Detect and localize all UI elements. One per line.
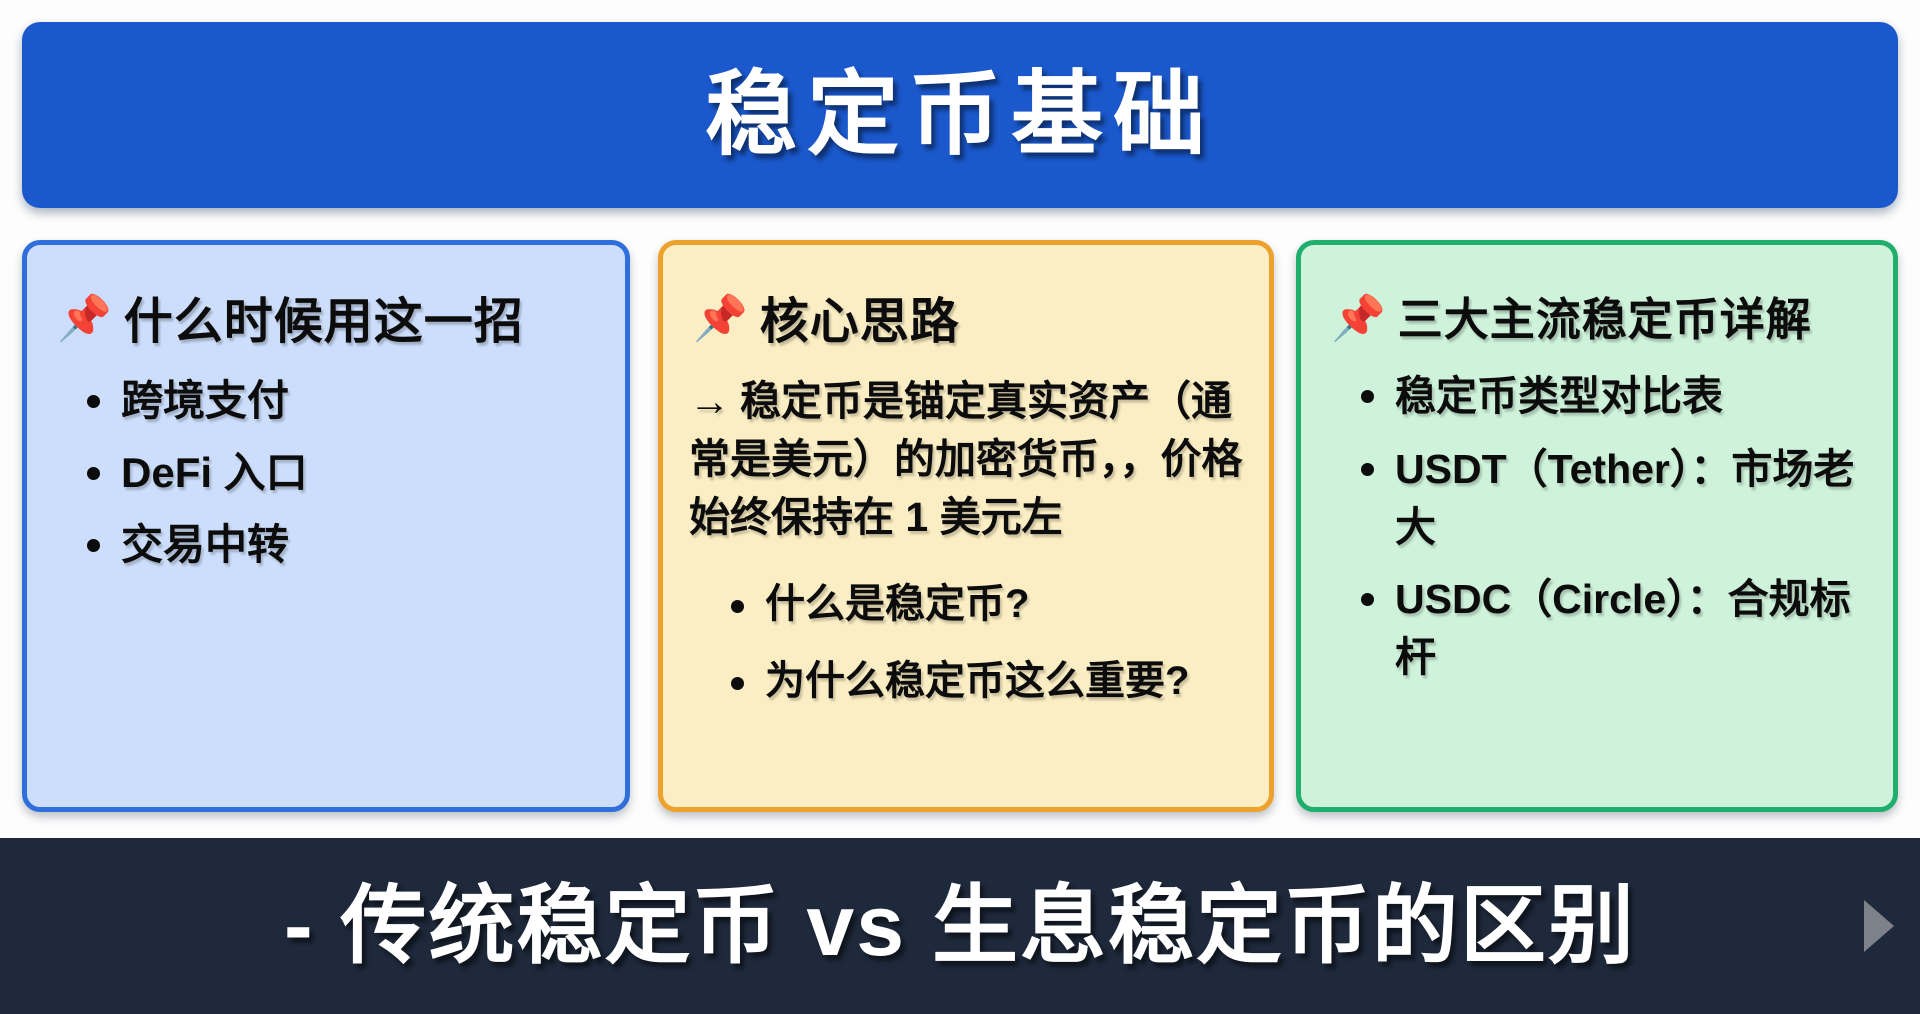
arrow-right-icon: → — [689, 378, 730, 424]
bullet-list: 什么是稳定币? 为什么稳定币这么重要? — [685, 577, 1247, 709]
card-three-major-stablecoins: 📌 三大主流稳定币详解 稳定币类型对比表 USDT（Tether）：市场老大 U… — [1296, 240, 1898, 812]
card-lead-paragraph: →稳定币是锚定真实资产（通常是美元）的加密货币，，价格始终保持在 1 美元左 — [689, 372, 1247, 547]
list-item: USDT（Tether）：市场老大 — [1361, 440, 1871, 556]
list-item: USDC（Circle）：合规标杆 — [1361, 570, 1871, 686]
card-title: 什么时候用这一招 — [124, 295, 524, 350]
list-item: 为什么稳定币这么重要? — [731, 654, 1247, 709]
list-item: 交易中转 — [87, 516, 603, 574]
bottom-caption-text: - 传统稳定币 vs 生息稳定币的区别 — [284, 883, 1636, 969]
card-title: 三大主流稳定币详解 — [1398, 295, 1812, 345]
card-header: 📌 核心思路 — [693, 295, 1247, 350]
list-item: 跨境支付 — [87, 372, 603, 430]
slide-root: 稳定币基础 📌 什么时候用这一招 跨境支付 DeFi 入口 交易中转 📌 核心思… — [0, 0, 1920, 1014]
header-banner: 稳定币基础 — [22, 22, 1898, 208]
list-item: 什么是稳定币? — [731, 577, 1247, 632]
card-when-to-use: 📌 什么时候用这一招 跨境支付 DeFi 入口 交易中转 — [22, 240, 630, 812]
card-header: 📌 三大主流稳定币详解 — [1331, 295, 1871, 345]
card-title: 核心思路 — [760, 295, 960, 350]
pushpin-icon: 📌 — [1331, 297, 1386, 341]
list-item: DeFi 入口 — [87, 444, 603, 502]
pushpin-icon: 📌 — [57, 297, 112, 341]
bottom-caption-bar: - 传统稳定币 vs 生息稳定币的区别 — [0, 838, 1920, 1014]
play-triangle-right-icon — [1864, 900, 1894, 952]
list-item: 稳定币类型对比表 — [1361, 367, 1871, 425]
bullet-list: 跨境支付 DeFi 入口 交易中转 — [49, 372, 603, 574]
pushpin-icon: 📌 — [693, 297, 748, 341]
bullet-list: 稳定币类型对比表 USDT（Tether）：市场老大 USDC（Circle）：… — [1323, 367, 1871, 686]
card-header: 📌 什么时候用这一招 — [57, 295, 603, 350]
card-lead-text: 稳定币是锚定真实资产（通常是美元）的加密货币，，价格始终保持在 1 美元左 — [689, 378, 1243, 540]
page-title: 稳定币基础 — [705, 69, 1215, 161]
cards-row: 📌 什么时候用这一招 跨境支付 DeFi 入口 交易中转 📌 核心思路 →稳定币… — [22, 240, 1898, 812]
card-core-idea: 📌 核心思路 →稳定币是锚定真实资产（通常是美元）的加密货币，，价格始终保持在 … — [658, 240, 1274, 812]
